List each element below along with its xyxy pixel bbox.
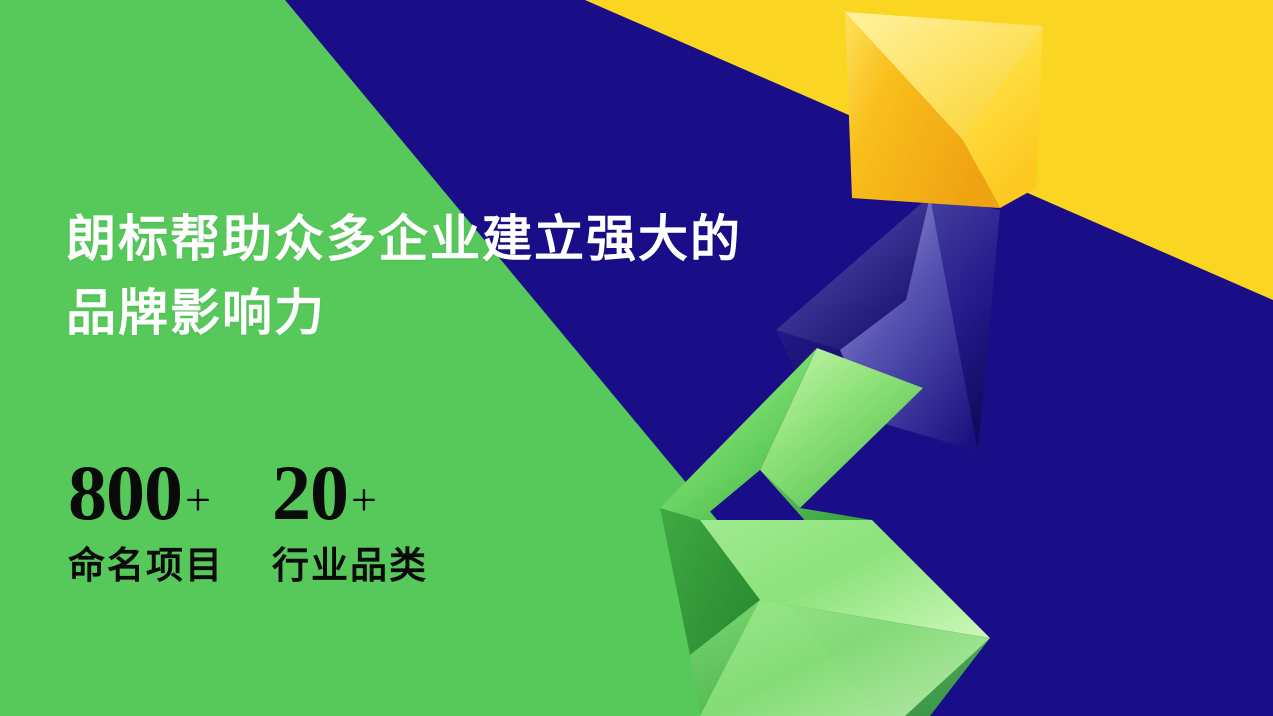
stat-item-industry-categories: 20 + 行业品类 xyxy=(272,452,428,588)
stat-label: 行业品类 xyxy=(272,544,428,588)
stat-value-group: 800 + xyxy=(68,452,210,534)
stat-number: 20 xyxy=(272,452,348,534)
stat-item-naming-projects: 800 + 命名项目 xyxy=(68,452,224,588)
brand-poster: 朗标帮助众多企业建立强大的 品牌影响力 800 + 命名项目 20 + 行业品类 xyxy=(0,0,1273,716)
stat-value-group: 20 + xyxy=(272,452,376,534)
stat-label: 命名项目 xyxy=(68,544,224,588)
stat-suffix: + xyxy=(351,477,376,523)
page-title: 朗标帮助众多企业建立强大的 品牌影响力 xyxy=(66,202,856,350)
stat-number: 800 xyxy=(68,452,182,534)
stats-row: 800 + 命名项目 20 + 行业品类 xyxy=(68,452,428,588)
stat-suffix: + xyxy=(185,477,210,523)
background-artwork xyxy=(0,0,1273,716)
